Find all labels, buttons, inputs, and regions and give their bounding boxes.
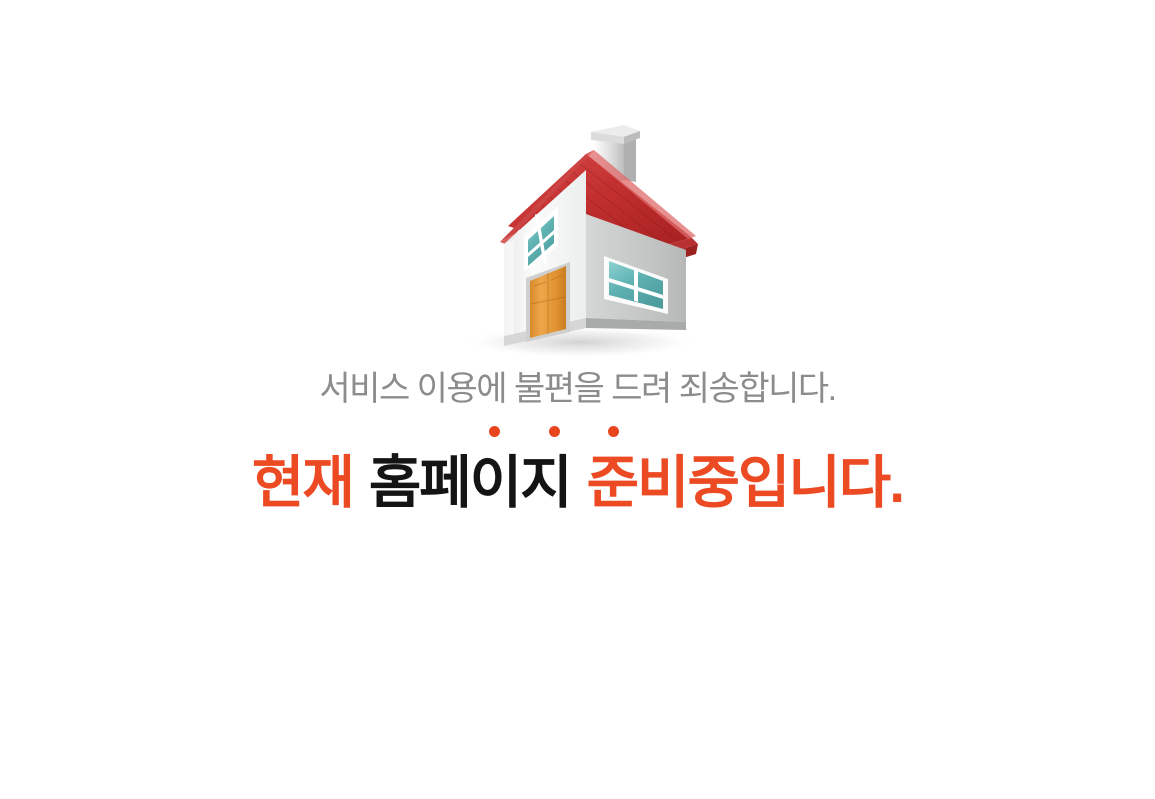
dots-row xyxy=(0,426,1155,440)
headline-part-preparing: 준비중입니다. xyxy=(587,451,903,515)
dot-3 xyxy=(608,426,619,437)
under-construction-page: 서비스 이용에 불편을 드려 죄송합니다. 현재홈페이지준비중입니다. xyxy=(0,0,1155,799)
headline-part-current: 현재 xyxy=(252,451,353,515)
ground-shadow xyxy=(462,326,698,358)
dot-1 xyxy=(489,426,500,437)
apology-subtitle: 서비스 이용에 불편을 드려 죄송합니다. xyxy=(0,368,1155,410)
dot-2 xyxy=(549,426,560,437)
headline-part-homepage: 홈페이지 xyxy=(369,451,571,515)
message-block: 서비스 이용에 불편을 드려 죄송합니다. 현재홈페이지준비중입니다. xyxy=(0,368,1155,516)
house-icon xyxy=(428,118,728,368)
house-illustration-container xyxy=(0,118,1155,368)
front-wall-highlight xyxy=(504,240,514,336)
headline: 현재홈페이지준비중입니다. xyxy=(0,450,1155,516)
